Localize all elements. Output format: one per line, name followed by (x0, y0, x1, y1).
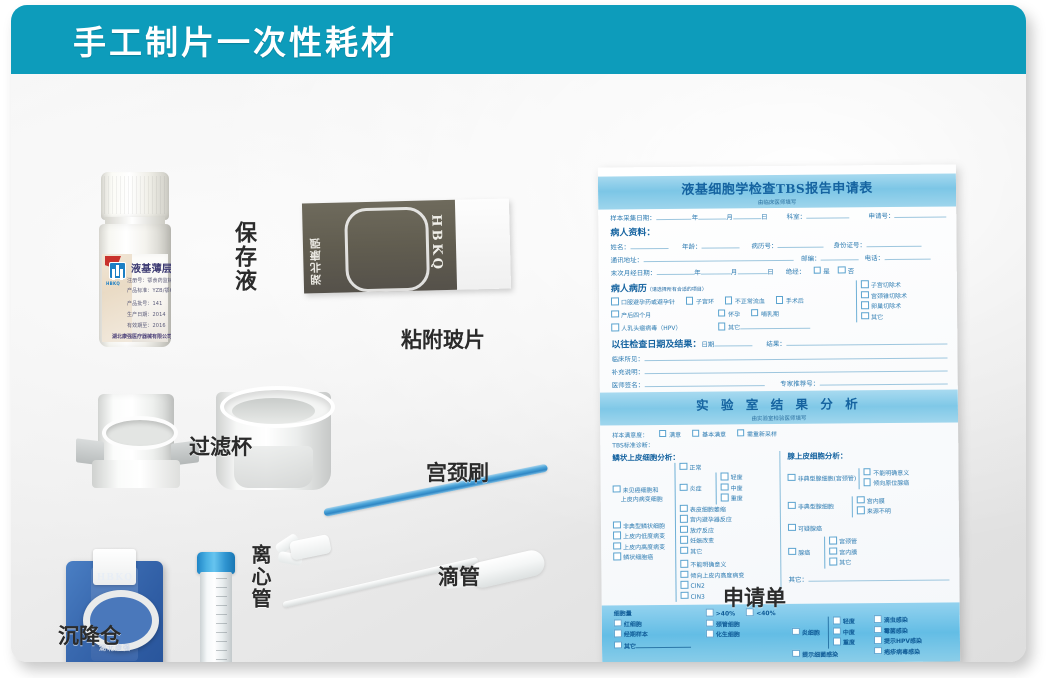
sq-inflam-cb[interactable] (680, 483, 688, 491)
history-cb-1[interactable] (686, 297, 694, 305)
history-cb-7[interactable] (611, 323, 619, 331)
expert-no-label: 专家推荐号： (780, 377, 819, 387)
band3-extra: 提示细菌感染 (802, 651, 838, 658)
gl-1-label: 非典型腺细胞(宫颈管) (798, 475, 857, 483)
history-cb-6[interactable] (751, 309, 759, 317)
record-no-label: 病历号： (751, 240, 777, 250)
slide-cn-text: 湖北康强 (307, 211, 331, 286)
gl-4-label: 腺癌 (798, 549, 810, 556)
lab-subtitle: 由实验室检验医师填写 (600, 412, 958, 423)
sq-abn-cb-0[interactable] (613, 521, 621, 529)
inflam-cb-0[interactable] (721, 472, 729, 480)
menopause-no-label: 否 (848, 265, 855, 275)
filter-cup-base (92, 460, 180, 488)
band4-cb-2[interactable] (874, 636, 882, 644)
clinical-label: 临床所见： (611, 353, 644, 363)
apply-no-label: 申请号： (868, 210, 894, 220)
clinical-input[interactable] (644, 350, 948, 361)
label-filter-cup: 过滤杯 (189, 431, 252, 461)
bottle-cap (101, 172, 169, 220)
gl-2-cb[interactable] (788, 502, 796, 510)
phone-label: 电话： (865, 252, 885, 262)
band2-cb-1[interactable] (706, 630, 714, 638)
product-photo-area: HBKQ 液基薄层细胞 注册号：鄂食药监械 产品标准：YZB/鄂6 产品批号：1… (11, 74, 1026, 662)
sq-abn-cb-1[interactable] (613, 531, 621, 539)
sq-abn-1: 上皮内低度病变 (623, 533, 665, 540)
label-application-form: 申请单 (723, 582, 786, 612)
band4-2: 提示HPV感染 (884, 638, 922, 645)
cell-amount-gt-cb[interactable] (706, 609, 714, 617)
preservation-fluid-bottle: HBKQ 液基薄层细胞 注册号：鄂食药监械 产品标准：YZB/鄂6 产品批号：1… (99, 172, 171, 347)
inflam-1: 中度 (731, 485, 743, 492)
history-item-8: 其它 (728, 324, 740, 331)
slide-sample-ring (344, 206, 430, 292)
history-heading-text: 病人病历 (611, 284, 647, 294)
history-item-4: 产后四个月 (621, 312, 651, 319)
supplement-label: 补充说明： (612, 366, 645, 376)
collect-date-label: 样本采集日期： (610, 212, 656, 222)
gl-2-sub-0: 宫内膜 (867, 498, 885, 505)
surgery-item-0: 子宫切除术 (871, 282, 901, 289)
menopause-yes-label: 是 (823, 266, 830, 276)
sq-abn-cb-2[interactable] (613, 542, 621, 550)
address-row: 通讯地址： 邮编： 电话： (611, 252, 947, 265)
band3-lvl-cb-2[interactable] (833, 637, 841, 645)
band4-1: 霉菌感染 (884, 627, 908, 634)
glandular-other-label: 其它： (788, 573, 808, 583)
form-title-bar: 液基细胞学检查TBS报告申请表 由临床医师填写 (598, 173, 956, 209)
id-no-label: 身份证号： (833, 239, 866, 249)
sq-abn-sub-cb-1[interactable] (680, 570, 688, 578)
zip-input[interactable] (821, 252, 859, 260)
dept-input[interactable] (806, 210, 849, 218)
doctor-sign-input[interactable] (644, 378, 764, 387)
sq-sub-cb-2[interactable] (680, 525, 688, 533)
apply-no-input[interactable] (894, 210, 946, 218)
sq-sub-cb-0[interactable] (680, 504, 688, 512)
lmp-day-input[interactable] (737, 266, 767, 274)
lmp-year-input[interactable] (656, 267, 694, 275)
band2-0: 颈管细胞 (716, 621, 740, 628)
label-centrifuge-tube: 离心管 (246, 544, 275, 610)
menopause-yes-checkbox[interactable] (813, 266, 821, 274)
expert-no-input[interactable] (819, 376, 948, 385)
collect-year-input[interactable] (656, 212, 692, 220)
sq-abn-2: 上皮内高度病变 (623, 543, 665, 550)
bottle-product-title: 液基薄层细胞 (131, 260, 171, 275)
surgery-cb-2[interactable] (861, 301, 869, 309)
collect-month-input[interactable] (698, 211, 726, 219)
name-input[interactable] (630, 241, 668, 249)
band3-lvl-1: 中度 (843, 629, 855, 636)
band1-cb-1[interactable] (614, 629, 622, 637)
sq-sub-cb-3[interactable] (680, 536, 688, 544)
gl-1-sub-1: 倾向原位腺癌 (873, 480, 909, 487)
surgery-row-3: 其它 (861, 311, 947, 322)
glandular-other-input[interactable] (808, 572, 950, 581)
gl-4-sub-2: 其它 (839, 559, 851, 566)
lab-title: 实 验 室 结 果 分 析 (600, 392, 958, 414)
glandular-heading: 腺上皮细胞分析： (787, 449, 948, 461)
cell-amount-label: 细胞量 (614, 610, 632, 617)
form-clinician-section: 样本采集日期： 年 月 日 科室： 申请号： 病人资料 (598, 206, 958, 389)
label-settling-chamber: 沉降仓 (58, 620, 121, 650)
lab-title-bar: 实 验 室 结 果 分 析 由实验室检验医师填写 (600, 389, 958, 425)
prev-result-label: 结果： (766, 337, 786, 347)
history-cb-2[interactable] (725, 296, 733, 304)
prev-date-label: 日期 (701, 338, 714, 348)
tube-barrel (200, 572, 232, 662)
history-other-input[interactable] (740, 321, 810, 330)
inflam-cell-cb[interactable] (792, 627, 800, 635)
gl-1-sub-cb-0[interactable] (863, 468, 871, 476)
lmp-day-unit: 日 (767, 266, 774, 276)
history-note: （请选择所有合适的项目） (647, 287, 707, 294)
quality-opt-1: 基本满意 (702, 431, 726, 438)
band1-2: 其它 (624, 643, 636, 650)
collect-date-row: 样本采集日期： 年 月 日 科室： 申请号： (610, 210, 946, 223)
history-cb-4[interactable] (611, 310, 619, 318)
squamous-analysis-column: 鳞状上皮细胞分析： 未见癌细胞和 上皮内病变细胞 非典型鳞状细胞 上皮内低度病变… (612, 451, 774, 603)
tube-cap (197, 552, 235, 574)
bottle-company: 湖北康强医疗器械有限公司 (112, 333, 171, 340)
sq-inflam-label: 炎症 (690, 485, 702, 492)
band3-extra-cb[interactable] (792, 649, 800, 657)
screenshot-root: 手工制片一次性耗材 HBKQ 液基薄层细胞 注册号：鄂食药监械 产品标准：YZB… (0, 0, 1054, 678)
centrifuge-tube (197, 552, 235, 662)
surgery-cb-3[interactable] (861, 312, 869, 320)
label-adhesive-slide: 粘附玻片 (401, 324, 485, 354)
surgery-item-1: 宫颈锥切除术 (871, 292, 907, 299)
gl-1-sub-0: 不能明确意义 (873, 469, 909, 476)
gl-3-label: 可疑腺癌 (798, 525, 822, 532)
band4-cb-1[interactable] (874, 626, 882, 634)
band3-lvl-2: 重度 (843, 639, 855, 646)
bottle-batch-no: 产品批号：141 (127, 300, 171, 307)
filter-cup-mouth (102, 416, 178, 450)
surgery-row-2: 卵巢切除术 (861, 301, 947, 312)
sq-abn-3: 鳞状细胞癌 (623, 554, 653, 561)
gl-1-cb[interactable] (788, 474, 796, 482)
brand-logo-text: HBKQ (106, 281, 120, 286)
sq-sub-2: 放疗反应 (690, 527, 714, 534)
prev-result-input[interactable] (786, 336, 948, 345)
form-title-cn2: 报告申请表 (805, 181, 873, 197)
gl-2-sub-1: 来源不明 (867, 508, 891, 515)
cytology-analysis-grid: 鳞状上皮细胞分析： 未见癌细胞和 上皮内病变细胞 非典型鳞状细胞 上皮内低度病变… (612, 449, 949, 602)
sq-abn-sub-cb-3[interactable] (681, 591, 689, 599)
bottle-body: HBKQ 液基薄层细胞 注册号：鄂食药监械 产品标准：YZB/鄂6 产品批号：1… (99, 224, 171, 347)
bottle-reg-no: 注册号：鄂食药监械 (127, 277, 171, 284)
sq-abn-sub-cb-2[interactable] (680, 581, 688, 589)
band3-lvl-cb-1[interactable] (833, 627, 841, 635)
bottle-expiry: 有效期至：2016 (127, 322, 171, 329)
supplement-input[interactable] (644, 363, 948, 374)
sq-abn-sub-cb-0[interactable] (680, 560, 688, 568)
band1-cb-0[interactable] (614, 619, 622, 627)
quality-cb-2[interactable] (737, 429, 745, 437)
surgery-row-1: 宫颈锥切除术 (861, 290, 947, 301)
id-no-input[interactable] (866, 239, 921, 247)
record-no-input[interactable] (777, 240, 823, 248)
history-row-3: 人乳头瘤病毒（HPV） 其它 (611, 320, 854, 334)
band1-1: 经期样本 (624, 631, 648, 638)
inflam-cb-2[interactable] (721, 493, 729, 501)
history-cb-3[interactable] (776, 296, 784, 304)
filter-cup-membrane (232, 398, 315, 424)
bottle-mfg-date: 生产日期：2014 (127, 311, 171, 318)
sq-sub-cb-4[interactable] (680, 546, 688, 554)
gl-1-sub-cb-1[interactable] (863, 478, 871, 486)
address-input[interactable] (643, 253, 793, 262)
band2-cb-0[interactable] (706, 619, 714, 627)
history-item-3: 手术后 (786, 298, 804, 305)
history-cb-0[interactable] (611, 297, 619, 305)
prev-exam-row: 以往检查日期及结果： 日期 结果： (611, 334, 947, 350)
patient-info-heading: 病人资料： (610, 223, 946, 239)
inflam-0: 轻度 (731, 474, 743, 481)
gl-4-sub-0: 宫颈管 (839, 538, 857, 545)
page-title: 手工制片一次性耗材 (73, 16, 397, 64)
patient-basic-row: 姓名： 年龄： 病历号： 身份证号： (610, 239, 946, 252)
sq-sub-3: 妊娠改变 (690, 538, 714, 545)
sq-abn-0: 非典型鳞状细胞 (623, 522, 665, 529)
no-lesion-label2: 上皮内病变细胞 (613, 495, 673, 505)
history-item-2: 不正常流血 (735, 298, 765, 305)
inflam-cell-label: 炎细胞 (802, 629, 820, 636)
lmp-row: 末次月经日期： 年 月 日 绝经： 是 否 (611, 265, 947, 278)
band3-lvl-0: 轻度 (843, 618, 855, 625)
doctor-sign-label: 医师签名： (612, 379, 645, 389)
bottle-label: HBKQ 液基薄层细胞 注册号：鄂食药监械 产品标准：YZB/鄂6 产品批号：1… (102, 254, 168, 342)
band4-cb-3[interactable] (874, 647, 882, 655)
zip-label: 邮编： (801, 253, 821, 263)
adhesive-slide: 湖北康强 HBKQ (302, 198, 511, 293)
sq-abn-sub-1: 倾向上皮内高度病变 (690, 572, 744, 579)
history-item-0: 口服避孕药或避孕针 (621, 299, 675, 306)
filter-cup-side-view (76, 392, 193, 492)
sq-abn-sub-2: CIN2 (690, 583, 704, 590)
sq-normal-label: 正常 (689, 464, 701, 471)
age-input[interactable] (701, 240, 739, 248)
slide-en-text: HBKQ (428, 214, 444, 272)
sq-abn-sub-0: 不能明确意义 (690, 561, 726, 568)
dept-label: 科室： (787, 211, 807, 221)
sq-sub-0: 表皮细胞萎缩 (690, 506, 726, 513)
bottle-standard: 产品标准：YZB/鄂6 (127, 287, 171, 294)
gl-4-sub-cb-2[interactable] (829, 558, 837, 566)
gl-2-sub-cb-1[interactable] (857, 506, 865, 514)
specimen-quality-label: 样本满意度： (612, 432, 648, 439)
inflam-2: 重度 (731, 495, 743, 502)
label-cervical-brush: 宫颈刷 (426, 457, 489, 487)
surgery-options-group: 子宫切除术 宫颈锥切除术 卵巢切除术 其它 (856, 280, 947, 323)
band4-cb-0[interactable] (874, 615, 882, 623)
no-lesion-label: 未见癌细胞和 (623, 487, 659, 494)
form-title-en: TBS (776, 182, 805, 196)
history-item-1: 子宫环 (696, 299, 714, 306)
prev-exam-heading: 以往检查日期及结果： (611, 336, 701, 350)
sq-normal-cb[interactable] (679, 462, 687, 470)
sq-sub-1: 宫内避孕器反应 (690, 516, 732, 523)
band1-cb-2[interactable] (614, 641, 622, 649)
sq-sub-cb-1[interactable] (680, 515, 688, 523)
history-row-1: 口服避孕药或避孕针 子宫环 不正常流血 手术后 (611, 295, 854, 308)
history-item-5: 怀孕 (728, 311, 740, 318)
band4-0: 滴虫感染 (884, 617, 908, 624)
sq-abn-cb-3[interactable] (613, 552, 621, 560)
doctor-sign-row: 医师签名： 专家推荐号： (612, 376, 948, 389)
band2-1: 化生细胞 (716, 631, 740, 638)
lmp-label: 末次月经日期： (611, 267, 657, 277)
prev-date-input[interactable] (714, 338, 752, 346)
phone-input[interactable] (884, 252, 930, 260)
quality-cb-0[interactable] (659, 429, 667, 437)
history-cb-5[interactable] (718, 309, 726, 317)
band4-3: 疱疹病毒感染 (884, 648, 920, 655)
sq-abn-sub-3: CIN3 (691, 593, 705, 600)
gl-4-cb[interactable] (788, 547, 796, 555)
label-dropper: 滴管 (438, 561, 480, 591)
address-label: 通讯地址： (611, 254, 644, 264)
form-title: 液基细胞学检查TBS报告申请表 (598, 176, 956, 198)
band1-0: 红细胞 (624, 621, 642, 628)
transfer-dropper (283, 554, 553, 624)
band3-lvl-cb-0[interactable] (833, 616, 841, 624)
history-cb-8[interactable] (718, 322, 726, 330)
surgery-cb-1[interactable] (861, 291, 869, 299)
history-item-6: 哺乳期 (761, 310, 779, 317)
chamber-en-text: HBKQ (92, 573, 138, 583)
menopause-no-checkbox[interactable] (838, 266, 846, 274)
surgery-item-3: 其它 (871, 314, 883, 321)
gl-4-sub-cb-0[interactable] (829, 537, 837, 545)
gl-4-sub-cb-1[interactable] (829, 547, 837, 555)
gl-2-label: 非典型腺细胞 (798, 503, 834, 510)
quality-opt-2: 需重新采样 (747, 431, 777, 438)
gl-2-sub-cb-0[interactable] (857, 496, 865, 504)
collect-day-input[interactable] (733, 211, 761, 219)
form-title-cn: 液基细胞学检查 (681, 182, 776, 198)
lmp-month-input[interactable] (701, 266, 731, 274)
age-label: 年龄： (682, 241, 702, 251)
surgery-row-0: 子宫切除术 (861, 280, 947, 291)
quality-opt-0: 满意 (669, 431, 681, 438)
gl-3-cb[interactable] (788, 523, 796, 531)
slide-frosted-end: 湖北康强 HBKQ (302, 200, 457, 294)
surgery-item-2: 卵巢切除术 (871, 303, 901, 310)
supplement-row: 补充说明： (612, 363, 948, 376)
quality-cb-1[interactable] (692, 429, 700, 437)
label-preservation-fluid: 保存液 (227, 221, 259, 293)
gl-4-sub-1: 宫内膜 (839, 549, 857, 556)
menopause-label: 绝经： (786, 266, 806, 276)
history-heading: 病人病历（请选择所有合适的项目） (611, 279, 854, 294)
band1-other-input[interactable] (636, 639, 691, 647)
glandular-analysis-column: 腺上皮细胞分析： 非典型腺细胞(宫颈管) 不能明确意义 倾向原位腺癌 非典型腺细… (779, 449, 949, 601)
history-item-7: 人乳头瘤病毒（HPV） (621, 325, 681, 333)
surgery-cb-0[interactable] (861, 280, 869, 288)
brand-logo-icon (109, 262, 126, 279)
day-unit: 日 (761, 211, 768, 221)
lab-section: 样本满意度： 满意 基本满意 需重新采样 TBS标准诊断： 鳞状上皮细胞分析： … (600, 422, 960, 603)
history-row-2: 产后四个月 怀孕 哺乳期 (611, 308, 854, 321)
name-label: 姓名： (610, 241, 630, 251)
clinical-row: 临床所见： (611, 350, 947, 363)
no-lesion-cb[interactable] (613, 485, 621, 493)
page-header: 手工制片一次性耗材 (11, 5, 1026, 74)
form-subtitle: 由临床医师填写 (598, 196, 956, 207)
inflam-cb-1[interactable] (721, 483, 729, 491)
sq-sub-4: 其它 (690, 548, 702, 555)
product-card: 手工制片一次性耗材 HBKQ 液基薄层细胞 注册号：鄂食药监械 产品标准：YZB… (11, 5, 1026, 662)
